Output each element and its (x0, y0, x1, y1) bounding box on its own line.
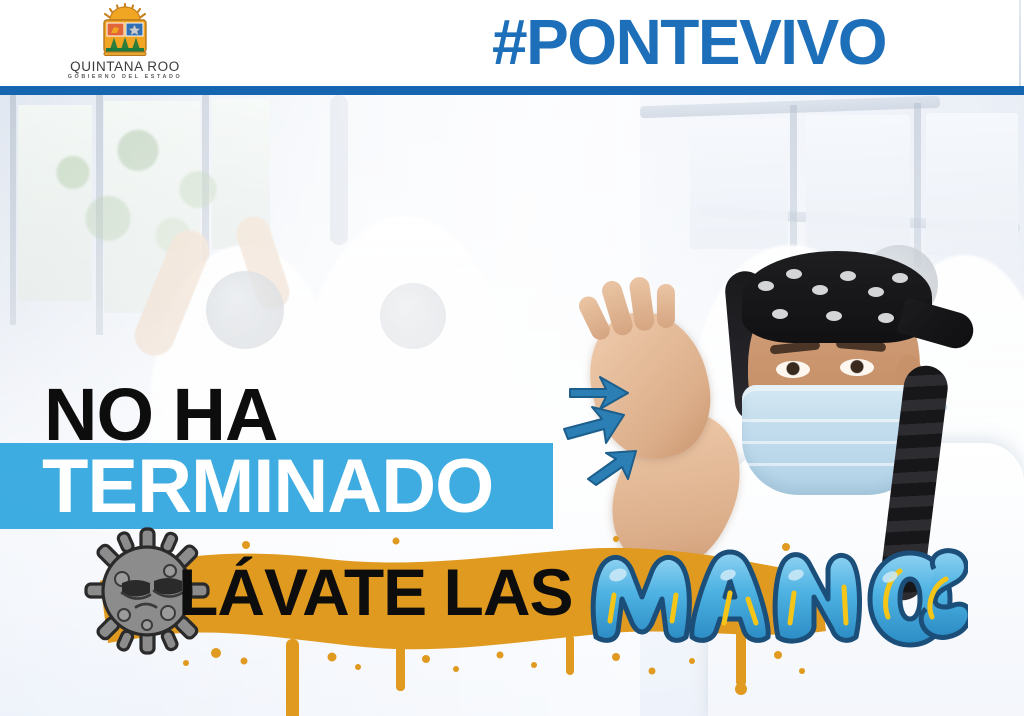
finger (657, 284, 675, 328)
subject-eye (776, 361, 810, 378)
campaign-hashtag: #PONTEVIVO (492, 8, 886, 76)
headline-line-1: NO HA (44, 377, 277, 453)
emblem-subtitle: GOBIERNO DEL ESTADO (62, 74, 188, 80)
subject-eye (840, 359, 874, 376)
campaign-poster: QUINTANA ROO GOBIERNO DEL ESTADO #PONTEV… (0, 0, 1024, 716)
tagline-prefix: LÁVATE LAS (178, 557, 573, 627)
header-right-edge-line (1019, 0, 1021, 88)
quintana-roo-coat-of-arms-icon (90, 3, 160, 61)
emblem-state-name: QUINTANA ROO (62, 59, 188, 74)
graffiti-word-manos (588, 543, 968, 653)
poster-header: QUINTANA ROO GOBIERNO DEL ESTADO #PONTEV… (0, 0, 1024, 88)
poster-photo-stage: NO HA TERMINADO (0, 95, 1024, 716)
motion-arrows-icon (562, 367, 682, 487)
government-emblem: QUINTANA ROO GOBIERNO DEL ESTADO (62, 2, 188, 86)
headline-line-2: TERMINADO (42, 447, 493, 527)
header-divider-bar (0, 86, 1024, 95)
